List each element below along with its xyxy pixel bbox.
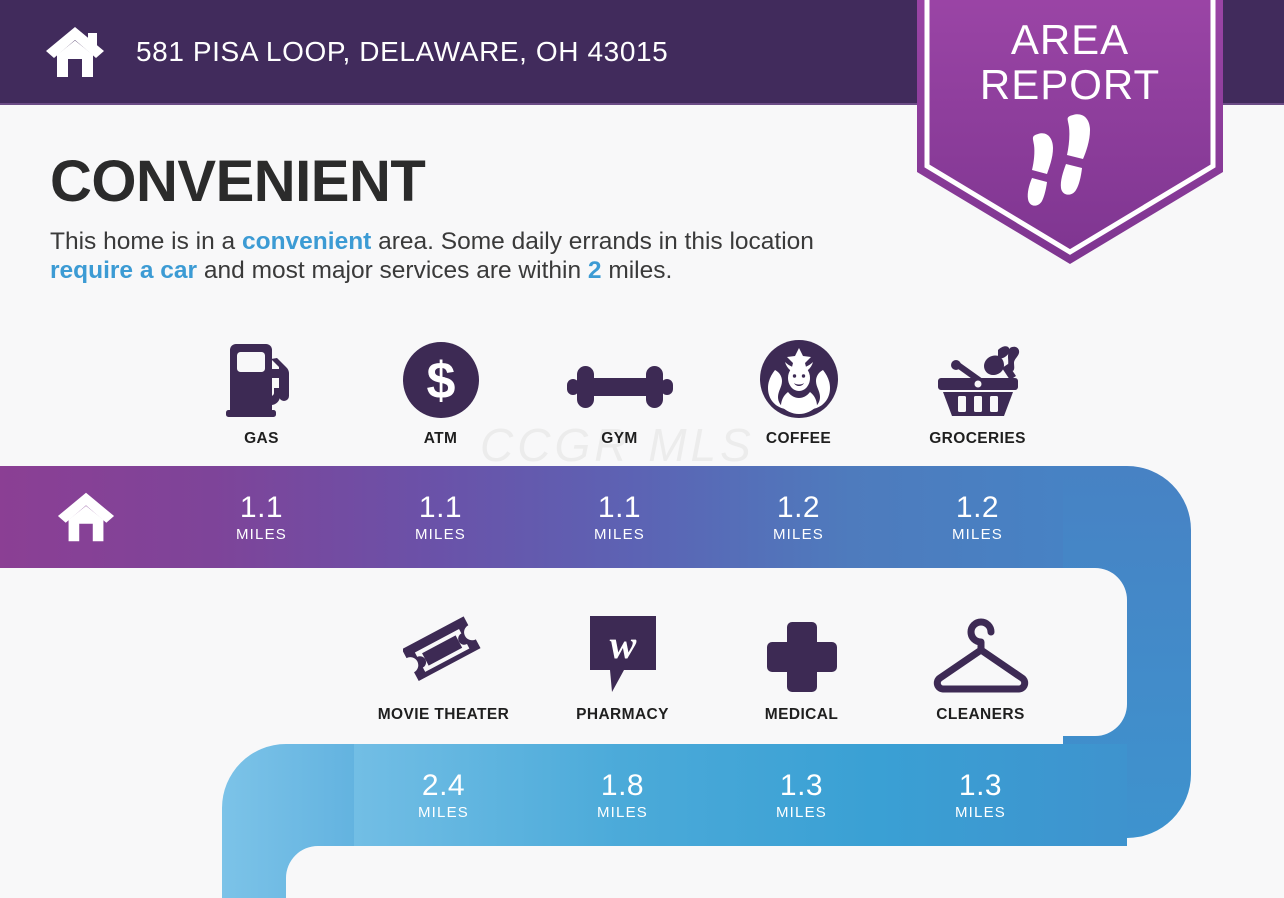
starbucks-siren-icon <box>760 340 838 418</box>
svg-text:w: w <box>609 622 636 667</box>
gas-pump-icon <box>222 340 302 418</box>
grocery-basket-icon <box>932 340 1024 418</box>
distance-unit: MILES <box>773 526 824 543</box>
poi-label: COFFEE <box>766 430 831 448</box>
home-icon <box>44 25 106 79</box>
distance-value: 1.2 <box>777 492 820 524</box>
badge-line-2: REPORT <box>980 61 1160 108</box>
movie-ticket-icon <box>403 616 485 694</box>
distance-cell-medical: 1.3 MILES <box>712 744 891 846</box>
row1-icon-group: GAS $ ATM <box>172 340 1067 448</box>
distance-value: 1.1 <box>598 492 641 524</box>
poi-label: CLEANERS <box>936 706 1024 724</box>
medical-cross-icon <box>765 616 839 694</box>
distance-value: 2.4 <box>422 770 465 802</box>
distance-value: 1.1 <box>419 492 462 524</box>
distance-cell-gym: 1.1 MILES <box>530 466 709 568</box>
area-report-badge: AREA REPORT <box>917 0 1223 264</box>
page-title: CONVENIENT <box>50 148 425 215</box>
poi-label: PHARMACY <box>576 706 669 724</box>
distance-cell-movie-theater: 2.4 MILES <box>354 744 533 846</box>
poi-label: GYM <box>601 430 638 448</box>
distance-cell-gas: 1.1 MILES <box>172 466 351 568</box>
summary-part-3: and most major services are within <box>197 257 588 284</box>
distance-unit: MILES <box>415 526 466 543</box>
row2-distance-group: 2.4 MILES 1.8 MILES 1.3 MILES 1.3 MILES <box>354 744 1070 846</box>
distance-cell-pharmacy: 1.8 MILES <box>533 744 712 846</box>
distance-cell-cleaners: 1.3 MILES <box>891 744 1070 846</box>
svg-text:$: $ <box>426 352 455 410</box>
distance-value: 1.8 <box>601 770 644 802</box>
poi-medical: MEDICAL <box>712 616 891 724</box>
distance-unit: MILES <box>952 526 1003 543</box>
poi-gym: GYM <box>530 340 709 448</box>
poi-pharmacy: w PHARMACY <box>533 616 712 724</box>
summary-highlight-require-car: require a car <box>50 257 197 284</box>
summary-part-2: area. Some daily errands in this locatio… <box>371 228 814 255</box>
distance-unit: MILES <box>236 526 287 543</box>
distance-unit: MILES <box>418 804 469 821</box>
poi-gas: GAS <box>172 340 351 448</box>
poi-atm: $ ATM <box>351 340 530 448</box>
summary-text: This home is in a convenient area. Some … <box>50 227 900 285</box>
poi-cleaners: CLEANERS <box>891 616 1070 724</box>
area-report-page: 581 PISA LOOP, DELAWARE, OH 43015 AREA R… <box>0 0 1284 898</box>
poi-label: GAS <box>244 430 279 448</box>
distance-unit: MILES <box>776 804 827 821</box>
distance-value: 1.2 <box>956 492 999 524</box>
summary-part-4: miles. <box>602 257 673 284</box>
summary-highlight-miles: 2 <box>588 257 602 284</box>
poi-movie-theater: MOVIE THEATER <box>354 616 533 724</box>
summary-part-1: This home is in a <box>50 228 242 255</box>
ribbon-home-cell <box>0 466 172 568</box>
distance-cell-groceries: 1.2 MILES <box>888 466 1067 568</box>
distance-unit: MILES <box>955 804 1006 821</box>
distance-unit: MILES <box>594 526 645 543</box>
badge-line-1: AREA <box>1011 16 1129 63</box>
poi-label: GROCERIES <box>929 430 1026 448</box>
dollar-circle-icon: $ <box>403 340 479 418</box>
property-address: 581 PISA LOOP, DELAWARE, OH 43015 <box>136 36 668 68</box>
distance-cell-atm: 1.1 MILES <box>351 466 530 568</box>
coat-hanger-icon <box>928 616 1034 694</box>
poi-label: MOVIE THEATER <box>378 706 510 724</box>
poi-groceries: GROCERIES <box>888 340 1067 448</box>
distance-value: 1.3 <box>959 770 1002 802</box>
distance-value: 1.1 <box>240 492 283 524</box>
poi-coffee: COFFEE <box>709 340 888 448</box>
poi-label: ATM <box>424 430 458 448</box>
distance-cell-coffee: 1.2 MILES <box>709 466 888 568</box>
summary-highlight-convenient: convenient <box>242 228 371 255</box>
row1-distance-group: 1.1 MILES 1.1 MILES 1.1 MILES 1.2 MILES … <box>172 466 1067 568</box>
distance-unit: MILES <box>597 804 648 821</box>
row2-icon-group: MOVIE THEATER w PHARMACY MEDICAL <box>354 616 1070 724</box>
dumbbell-icon <box>567 340 673 418</box>
poi-label: MEDICAL <box>765 706 838 724</box>
home-icon <box>56 490 116 544</box>
walgreens-w-icon: w <box>588 616 658 694</box>
distance-value: 1.3 <box>780 770 823 802</box>
